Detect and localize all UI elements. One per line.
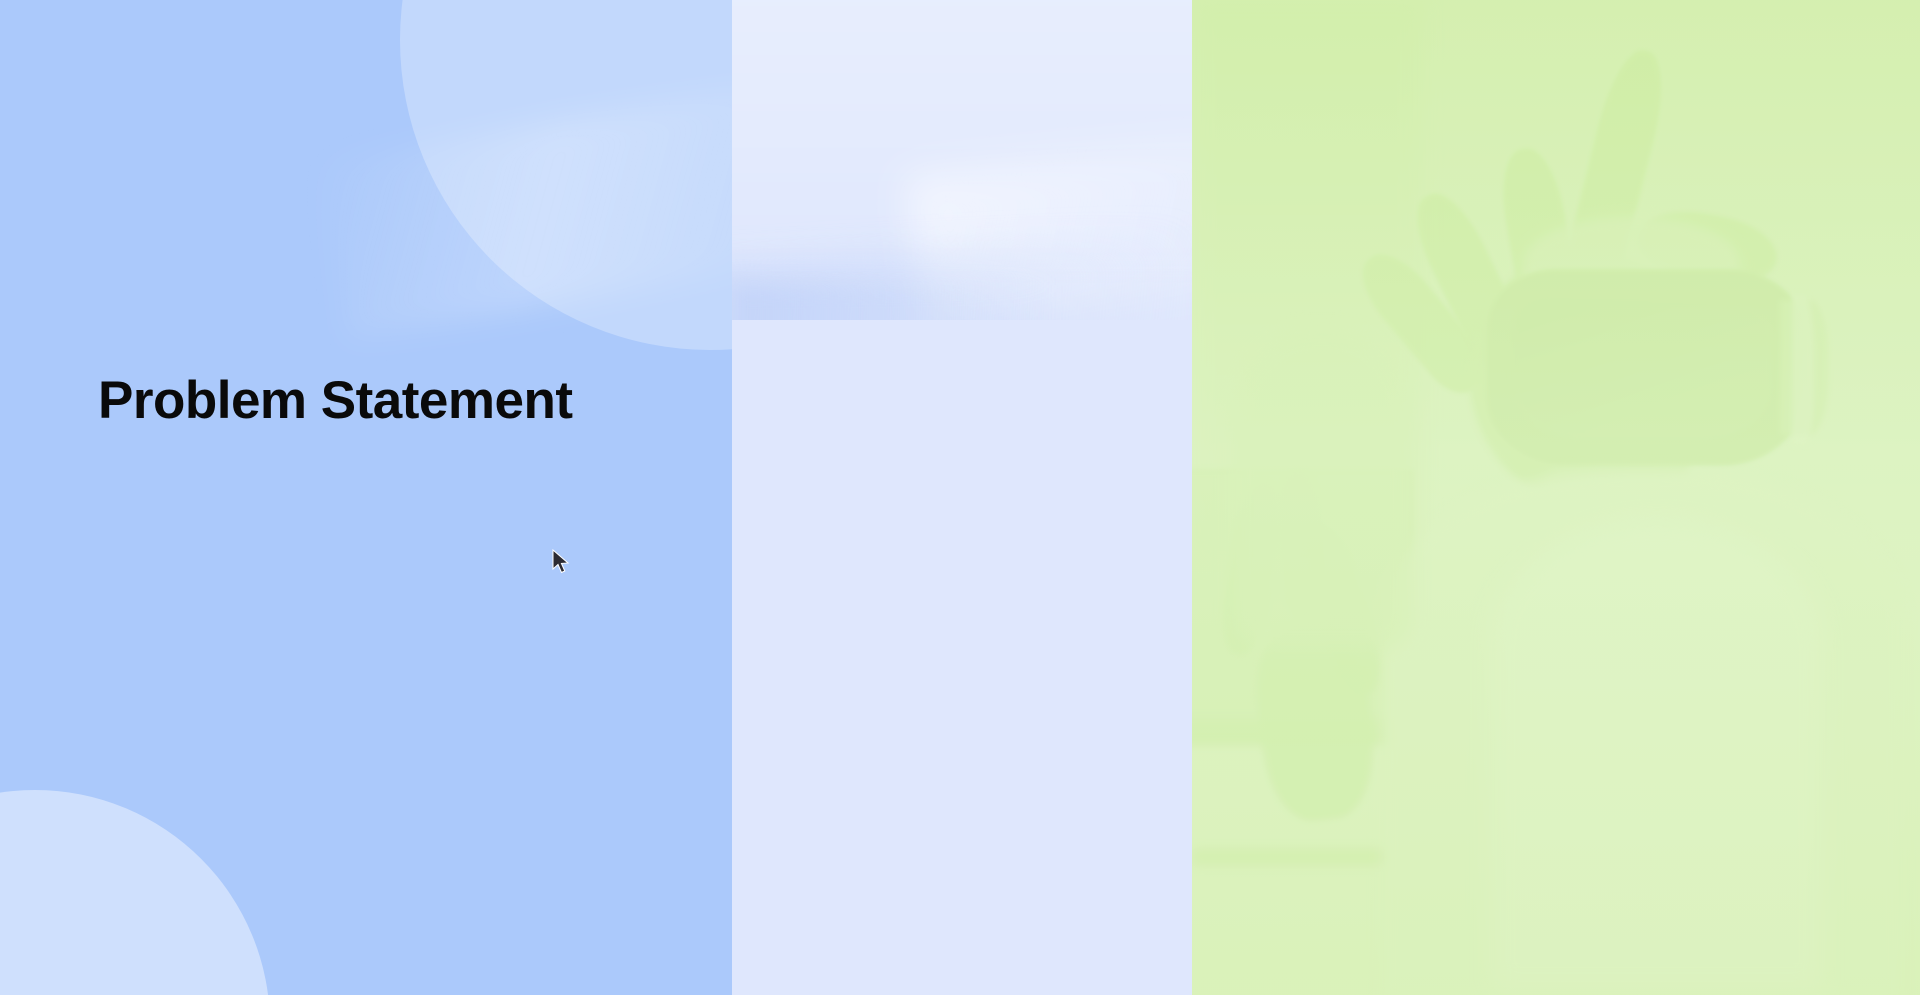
slide-canvas: Problem Statement bbox=[0, 0, 1920, 995]
panel-title-problem-statement: Problem Statement bbox=[98, 374, 573, 427]
photo-green-wash-overlay bbox=[1192, 0, 1920, 995]
spacer-lower-band bbox=[732, 320, 1192, 995]
panel-spacer[interactable] bbox=[732, 0, 1192, 995]
panel-problem-statement[interactable]: Problem Statement bbox=[0, 0, 732, 995]
vr-headset-photo bbox=[1192, 0, 1920, 995]
panel-solution-overview[interactable]: Solution Overview bbox=[1192, 0, 1920, 995]
decorative-circle-bottom-left bbox=[0, 790, 270, 995]
